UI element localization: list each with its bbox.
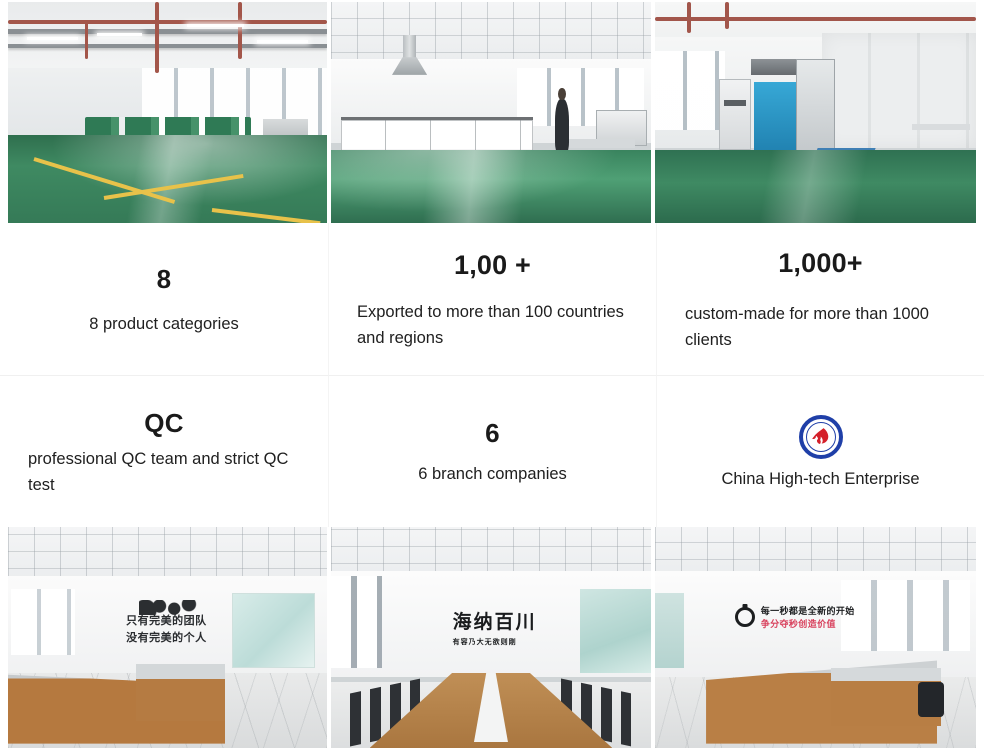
stats-row-2: QC professional QC team and strict QC te…: [0, 375, 984, 527]
stat-value: 8: [28, 265, 300, 294]
bird-decal-icon: [139, 600, 203, 615]
control-cabinet: [719, 79, 751, 150]
calligraphy-main-text: 海纳百川: [453, 611, 537, 633]
china-high-tech-logo-icon: [799, 415, 843, 459]
stat-label: custom-made for more than 1000 clients: [685, 302, 956, 353]
photo-smt-reflow-line: [331, 2, 650, 223]
duct: [403, 35, 416, 59]
calligraphy-sub-text: 有容乃大无欲则刚: [453, 637, 537, 647]
stat-custom-made-clients: 1,000+ custom-made for more than 1000 cl…: [656, 223, 984, 375]
stat-high-tech-enterprise: China High-tech Enterprise: [656, 375, 984, 527]
blue-machine: [754, 82, 796, 157]
photo-meeting-room: 海纳百川 有容乃大无欲则刚: [331, 527, 650, 748]
photo-testing-equipment-room: [655, 2, 976, 223]
photo-factory-production-hall: [8, 2, 327, 223]
stat-exported-countries: 1,00 + Exported to more than 100 countri…: [328, 223, 656, 375]
glass-partition: [580, 589, 650, 673]
windows: [11, 589, 75, 655]
stats-grid: 8 8 product categories 1,00 + Exported t…: [0, 223, 984, 527]
stat-value: QC: [28, 409, 300, 438]
floor: [655, 150, 976, 223]
windows: [841, 580, 970, 651]
stat-value: 1,00 +: [357, 251, 628, 281]
glass-partition: [232, 593, 315, 668]
floor: [8, 135, 327, 223]
glass-door: [655, 593, 684, 668]
stats-row-1: 8 8 product categories 1,00 + Exported t…: [0, 223, 984, 375]
stat-label: 6 branch companies: [357, 462, 628, 488]
side-table: [912, 124, 970, 131]
panel-wall: [822, 33, 976, 148]
work-bench: [568, 139, 635, 148]
floor: [331, 150, 650, 223]
stat-label: China High-tech Enterprise: [685, 467, 956, 493]
office-chair: [918, 682, 944, 717]
top-photo-strip: [8, 2, 976, 223]
stat-product-categories: 8 8 product categories: [0, 223, 328, 375]
bottom-photo-strip: 只有完美的团队 没有完美的个人 海纳百川: [8, 527, 976, 748]
stat-label: 8 product categories: [28, 312, 300, 338]
photo-sales-office: 每一秒都是全新的开始 争分夺秒创造价值: [655, 527, 976, 748]
company-profile-page: 8 8 product categories 1,00 + Exported t…: [0, 0, 984, 750]
stopwatch-decal-icon: [735, 607, 755, 627]
stat-branch-companies: 6 6 branch companies: [328, 375, 656, 527]
stat-label: professional QC team and strict QC test: [28, 447, 300, 498]
test-chamber: [796, 59, 835, 156]
worker: [555, 99, 569, 152]
calligraphy-wall-art: 海纳百川 有容乃大无欲则刚: [453, 607, 537, 647]
windows: [331, 576, 382, 669]
stat-value: 1,000+: [685, 249, 956, 279]
stat-value: 6: [357, 419, 628, 448]
stat-qc-team: QC professional QC team and strict QC te…: [0, 375, 328, 527]
windows: [655, 51, 726, 131]
stat-label: Exported to more than 100 countries and …: [357, 300, 628, 351]
cubicle-desks-secondary: [136, 664, 225, 721]
photo-open-plan-office: 只有完美的团队 没有完美的个人: [8, 527, 327, 748]
